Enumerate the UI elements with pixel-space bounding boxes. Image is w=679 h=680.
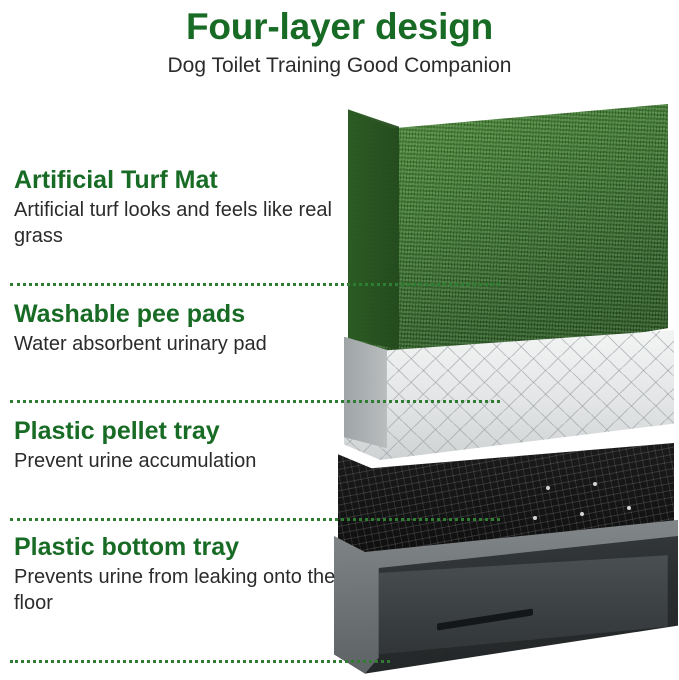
connector-line-turf: [10, 283, 500, 286]
callout-heading: Plastic bottom tray: [14, 533, 344, 561]
pad-quilting-pattern: [344, 330, 674, 460]
connector-line-pellet-tray: [10, 518, 500, 521]
washable-pee-pad-image: [344, 330, 674, 460]
callout-description: Water absorbent urinary pad: [14, 332, 344, 358]
callout-description: Artificial turf looks and feels like rea…: [14, 198, 344, 249]
product-infographic: Four-layer design Dog Toilet Training Go…: [0, 0, 679, 680]
header: Four-layer design Dog Toilet Training Go…: [0, 0, 679, 78]
callout-description: Prevent urine accumulation: [14, 449, 344, 475]
pad-edge: [344, 337, 387, 449]
callout-washable-pee-pads: Washable pee pads Water absorbent urinar…: [14, 300, 344, 358]
pellet-tray-highlight-dot: [627, 506, 631, 510]
connector-line-bottom-tray: [10, 660, 390, 663]
pellet-tray-highlight-dot: [580, 512, 584, 516]
callout-plastic-bottom-tray: Plastic bottom tray Prevents urine from …: [14, 533, 344, 616]
callout-description: Prevents urine from leaking onto the flo…: [14, 565, 344, 616]
plastic-bottom-tray-image: [334, 520, 678, 680]
callout-artificial-turf-mat: Artificial Turf Mat Artificial turf look…: [14, 166, 344, 249]
callout-heading: Plastic pellet tray: [14, 417, 344, 445]
callout-heading: Washable pee pads: [14, 300, 344, 328]
callout-heading: Artificial Turf Mat: [14, 166, 344, 194]
connector-line-pee-pads: [10, 400, 500, 403]
turf-edge: [348, 109, 399, 357]
callout-plastic-pellet-tray: Plastic pellet tray Prevent urine accumu…: [14, 417, 344, 475]
page-subtitle: Dog Toilet Training Good Companion: [0, 54, 679, 78]
page-title: Four-layer design: [0, 8, 679, 47]
